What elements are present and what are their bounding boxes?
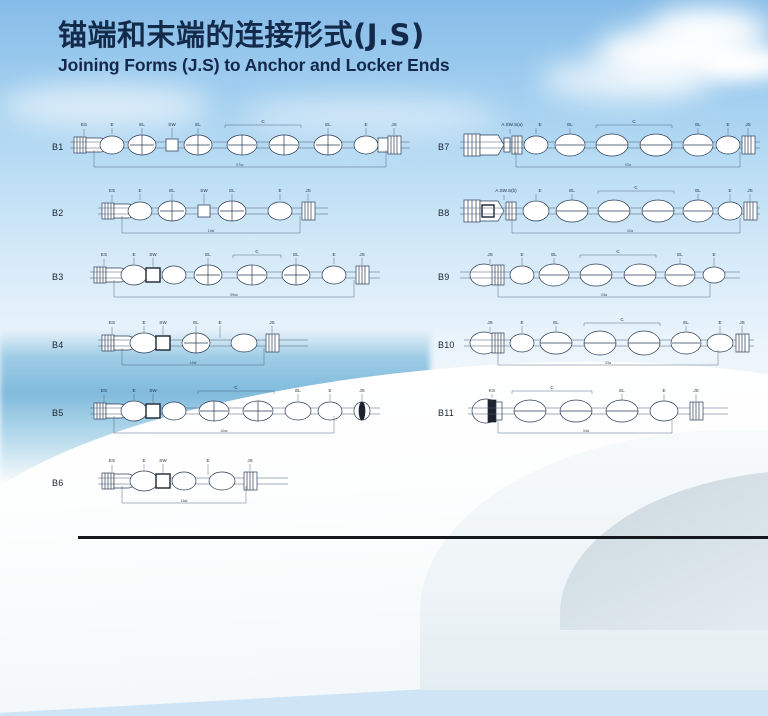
component-label: E bbox=[132, 388, 135, 393]
component-label: E bbox=[520, 252, 523, 257]
chain-drawing: A.SW.S(b) E EL C EL E JS 02a bbox=[460, 186, 760, 241]
component-label: EL bbox=[567, 122, 573, 127]
bracket-label: C bbox=[620, 317, 624, 322]
chain-svg-b11: KS C EL E JS 04a bbox=[468, 386, 728, 441]
chain-svg-b7: A.SW.S(a) E EL C EL E JS 02a bbox=[460, 120, 760, 175]
chain-drawing: ES E SW E JS 18sf bbox=[98, 456, 288, 511]
component-label: EL bbox=[569, 188, 575, 193]
component-label: JS bbox=[391, 122, 396, 127]
component-label: JS bbox=[247, 458, 252, 463]
chain-drawing: A.SW.S(a) E EL C EL E JS 02a bbox=[460, 120, 760, 175]
component-label: ES bbox=[109, 188, 115, 193]
component-label: E bbox=[538, 188, 541, 193]
row-id-label: B2 bbox=[52, 208, 63, 218]
dimension-label: 09sc bbox=[230, 293, 238, 297]
dimension-label: 18sf bbox=[181, 499, 188, 503]
component-label: E bbox=[712, 252, 715, 257]
dimension-label: 03a bbox=[605, 361, 611, 365]
component-label: ES bbox=[101, 252, 107, 257]
component-label: EL bbox=[229, 188, 235, 193]
dimension-label: 04a bbox=[583, 429, 589, 433]
component-label: EL bbox=[325, 122, 331, 127]
component-label: EL bbox=[683, 320, 689, 325]
component-label: A.SW.S(b) bbox=[495, 188, 517, 193]
chain-svg-b10: JS E EL C EL E JS 03a bbox=[464, 318, 754, 373]
component-label: E bbox=[726, 122, 729, 127]
component-label: E bbox=[520, 320, 523, 325]
chain-drawing: JS E EL C EL E 03a bbox=[460, 250, 740, 305]
component-label: SW bbox=[200, 188, 208, 193]
component-label: JS bbox=[487, 320, 492, 325]
chain-drawing: ES E EL SW EL C EL E JS 07sc bbox=[70, 120, 410, 175]
component-label: JS bbox=[359, 252, 364, 257]
component-label: SW bbox=[168, 122, 176, 127]
component-label: A.SW.S(a) bbox=[501, 122, 523, 127]
chain-svg-b6: ES E SW E JS 18sf bbox=[98, 456, 288, 511]
chain-drawing: ES E SW EL E JS 16sf bbox=[98, 318, 308, 373]
component-label: ES bbox=[101, 388, 107, 393]
chain-svg-b4: ES E SW EL E JS 16sf bbox=[98, 318, 308, 373]
component-label: EL bbox=[619, 388, 625, 393]
component-label: ES bbox=[109, 458, 115, 463]
component-label: E bbox=[138, 188, 141, 193]
row-id-label: B1 bbox=[52, 142, 63, 152]
page-title-english: Joining Forms (J.S) to Anchor and Locker… bbox=[58, 55, 450, 76]
component-label: JS bbox=[747, 188, 752, 193]
component-label: KS bbox=[489, 388, 495, 393]
diagram-area: B1 bbox=[0, 0, 768, 540]
component-label: JS bbox=[269, 320, 274, 325]
bracket-label: C bbox=[255, 249, 259, 254]
component-label: E bbox=[662, 388, 665, 393]
dimension-label: 14sf bbox=[208, 229, 215, 233]
component-label: ES bbox=[81, 122, 87, 127]
component-label: E bbox=[718, 320, 721, 325]
component-label: EL bbox=[205, 252, 211, 257]
row-id-label: B10 bbox=[438, 340, 455, 350]
chain-svg-b8: A.SW.S(b) E EL C EL E JS 02a bbox=[460, 186, 760, 241]
dimension-label: 02a bbox=[627, 229, 633, 233]
component-label: EL bbox=[193, 320, 199, 325]
bracket-label: C bbox=[632, 119, 636, 124]
component-label: EL bbox=[139, 122, 145, 127]
component-label: EL bbox=[695, 122, 701, 127]
component-label: EL bbox=[677, 252, 683, 257]
component-label: EL bbox=[695, 188, 701, 193]
component-label: E bbox=[142, 458, 145, 463]
component-label: EL bbox=[551, 252, 557, 257]
component-label: JS bbox=[487, 252, 492, 257]
component-label: EL bbox=[293, 252, 299, 257]
component-label: SW bbox=[149, 252, 157, 257]
component-label: SW bbox=[149, 388, 157, 393]
page-title-chinese: 锚端和末端的连接形式(J.S) bbox=[58, 18, 450, 52]
bracket-label: C bbox=[234, 385, 238, 390]
component-label: EL bbox=[169, 188, 175, 193]
component-label: E bbox=[278, 188, 281, 193]
slide-title-block: 锚端和末端的连接形式(J.S) Joining Forms (J.S) to A… bbox=[58, 18, 450, 76]
row-id-label: B3 bbox=[52, 272, 63, 282]
component-label: JS bbox=[305, 188, 310, 193]
component-label: E bbox=[328, 388, 331, 393]
dimension-label: 07sc bbox=[236, 163, 244, 167]
component-label: SW bbox=[159, 458, 167, 463]
component-label: EL bbox=[553, 320, 559, 325]
chain-drawing: ES E SW C EL E JS 10sc bbox=[90, 386, 380, 441]
chain-svg-b9: JS E EL C EL E 03a bbox=[460, 250, 740, 305]
component-label: E bbox=[332, 252, 335, 257]
chain-svg-b2: ES E EL SW EL E JS 14sf bbox=[98, 186, 328, 241]
bracket-label: C bbox=[550, 385, 554, 390]
chain-drawing: ES E EL SW EL E JS 14sf bbox=[98, 186, 328, 241]
chain-svg-b1: ES E EL SW EL C EL E JS 07sc bbox=[70, 120, 410, 175]
component-label: E bbox=[206, 458, 209, 463]
row-id-label: B11 bbox=[438, 408, 454, 418]
component-label: E bbox=[110, 122, 113, 127]
component-label: JS bbox=[739, 320, 744, 325]
row-id-label: B6 bbox=[52, 478, 63, 488]
dimension-label: 16sf bbox=[190, 361, 197, 365]
chain-drawing: JS E EL C EL E JS 03a bbox=[464, 318, 754, 373]
row-id-label: B4 bbox=[52, 340, 63, 350]
chain-drawing: KS C EL E JS 04a bbox=[468, 386, 728, 441]
dimension-label: 03a bbox=[601, 293, 607, 297]
row-id-label: B8 bbox=[438, 208, 449, 218]
component-label: ES bbox=[109, 320, 115, 325]
row-id-label: B7 bbox=[438, 142, 449, 152]
component-label: EL bbox=[295, 388, 301, 393]
bracket-label: C bbox=[261, 119, 265, 124]
chain-drawing: ES E SW EL C EL E JS 09sc bbox=[90, 250, 380, 305]
row-id-label: B5 bbox=[52, 408, 63, 418]
component-label: E bbox=[364, 122, 367, 127]
bracket-label: C bbox=[634, 185, 638, 190]
component-label: JS bbox=[359, 388, 364, 393]
bracket-label: C bbox=[616, 249, 620, 254]
chain-svg-b5: ES E SW C EL E JS 10sc bbox=[90, 386, 380, 441]
component-label: E bbox=[132, 252, 135, 257]
component-label: E bbox=[142, 320, 145, 325]
component-label: EL bbox=[195, 122, 201, 127]
component-label: JS bbox=[745, 122, 750, 127]
component-label: SW bbox=[159, 320, 167, 325]
dimension-label: 10sc bbox=[220, 429, 228, 433]
dimension-label: 02a bbox=[625, 163, 631, 167]
component-label: E bbox=[218, 320, 221, 325]
row-id-label: B9 bbox=[438, 272, 449, 282]
component-label: JS bbox=[693, 388, 698, 393]
component-label: E bbox=[538, 122, 541, 127]
chain-svg-b3: ES E SW EL C EL E JS 09sc bbox=[90, 250, 380, 305]
component-label: E bbox=[728, 188, 731, 193]
